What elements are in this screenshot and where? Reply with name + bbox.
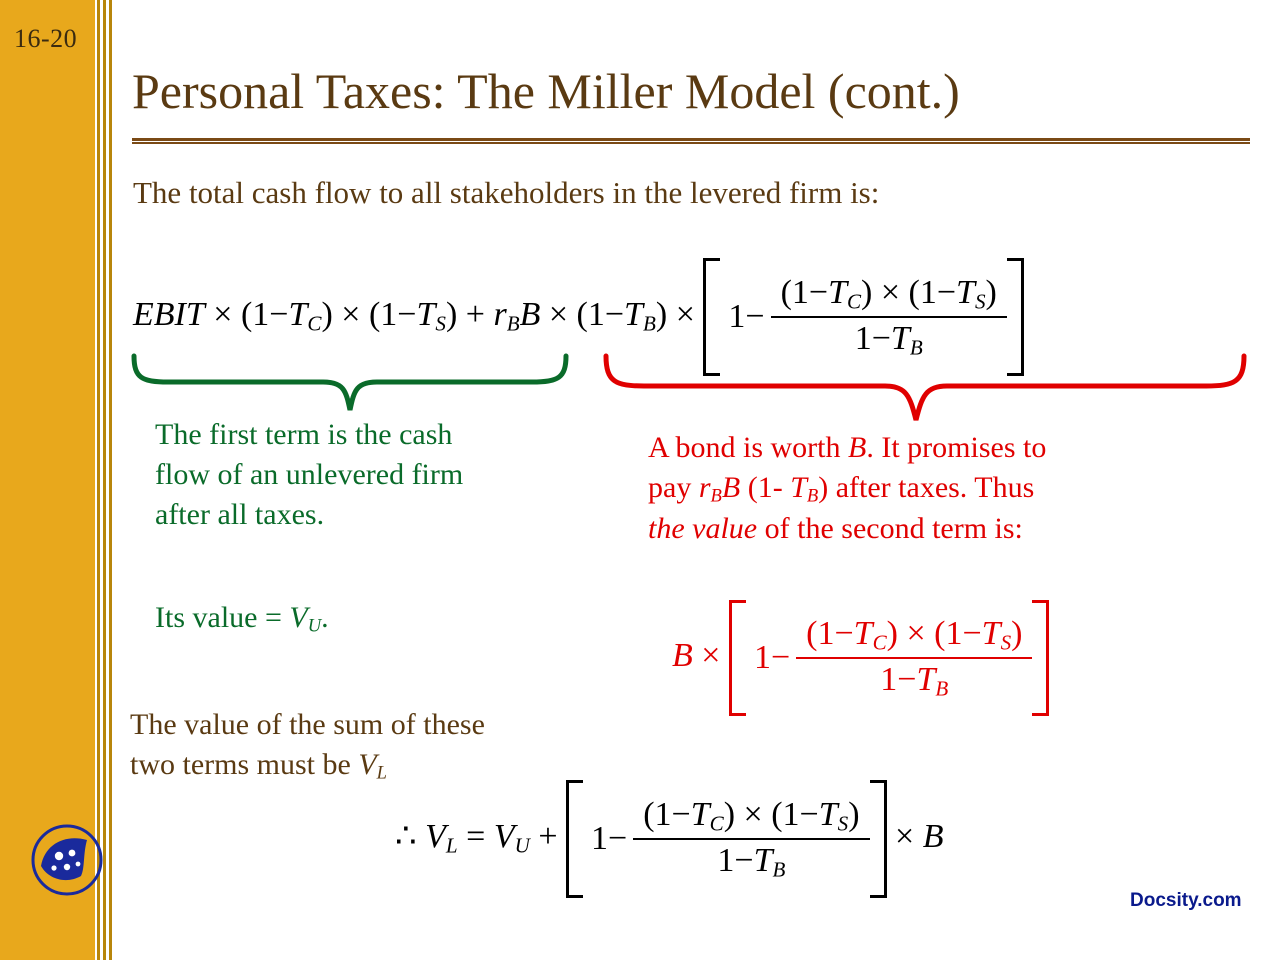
red-note-line-2: pay rBB (1- TB) after taxes. Thus: [648, 468, 1248, 509]
band-divider-line-1: [97, 0, 100, 960]
green-value-sub: U: [308, 616, 321, 637]
title-underline-rule: [132, 138, 1250, 144]
green-value-prefix: Its value =: [155, 601, 289, 634]
green-note-line-2: flow of an unlevered firm: [155, 455, 595, 495]
red-line1-b: B: [848, 431, 866, 464]
brown-note-block: The value of the sum of these two terms …: [130, 705, 650, 786]
brown-note-line-1: The value of the sum of these: [130, 705, 650, 745]
green-note-block: The first term is the cash flow of an un…: [155, 415, 595, 535]
green-note-line-3: after all taxes.: [155, 495, 595, 535]
red-note-line-1: A bond is worth B. It promises to: [648, 428, 1248, 468]
red-line2-B: B: [722, 471, 740, 504]
brown-line2-sub: L: [377, 763, 387, 784]
eq-ebit: EBIT: [133, 296, 205, 333]
red-line2-rsub: B: [711, 486, 722, 507]
lead-paragraph: The total cash flow to all stakeholders …: [133, 175, 879, 211]
band-divider-line-2: [103, 0, 106, 960]
red-line1-c: . It promises to: [866, 431, 1046, 464]
final-equation: ∴ VL = VU + 1− (1−TC) × (1−TS) 1−TB × B: [395, 780, 943, 898]
brown-line2-a: two terms must be: [130, 748, 358, 781]
red-note-line-3: the value of the second term is:: [648, 509, 1248, 549]
green-value-line: Its value = VU.: [155, 598, 595, 639]
red-line3-emphasis: the value: [648, 512, 757, 545]
watermark-docsity: Docsity.com: [1130, 890, 1242, 912]
page-title: Personal Taxes: The Miller Model (cont.): [132, 62, 1252, 120]
therefore-symbol: ∴: [395, 818, 417, 855]
brown-line2-V: V: [358, 748, 376, 781]
docsity-logo-icon: [25, 818, 109, 902]
red-line3-rest: of the second term is:: [757, 512, 1023, 545]
slide: 16-20 Personal Taxes: The Miller Model (…: [0, 0, 1280, 960]
green-note-line-1: The first term is the cash: [155, 415, 595, 455]
red-line2-d: ) after taxes. Thus: [818, 471, 1034, 504]
green-value-symbol: V: [289, 601, 307, 634]
red-equation: B × 1− (1−TC) × (1−TS) 1−TB: [672, 600, 1049, 716]
red-line2-Tsub: B: [807, 486, 818, 507]
slide-number: 16-20: [14, 24, 77, 54]
red-line2-T: T: [790, 471, 807, 504]
red-line2-a: pay: [648, 471, 699, 504]
red-line1-a: A bond is worth: [648, 431, 848, 464]
red-line2-c: (1-: [740, 471, 790, 504]
red-line2-r: r: [699, 471, 711, 504]
red-note-block: A bond is worth B. It promises to pay rB…: [648, 428, 1248, 549]
green-value-suffix: .: [321, 601, 329, 634]
left-gold-band: [0, 0, 95, 960]
band-divider-line-3: [109, 0, 112, 960]
